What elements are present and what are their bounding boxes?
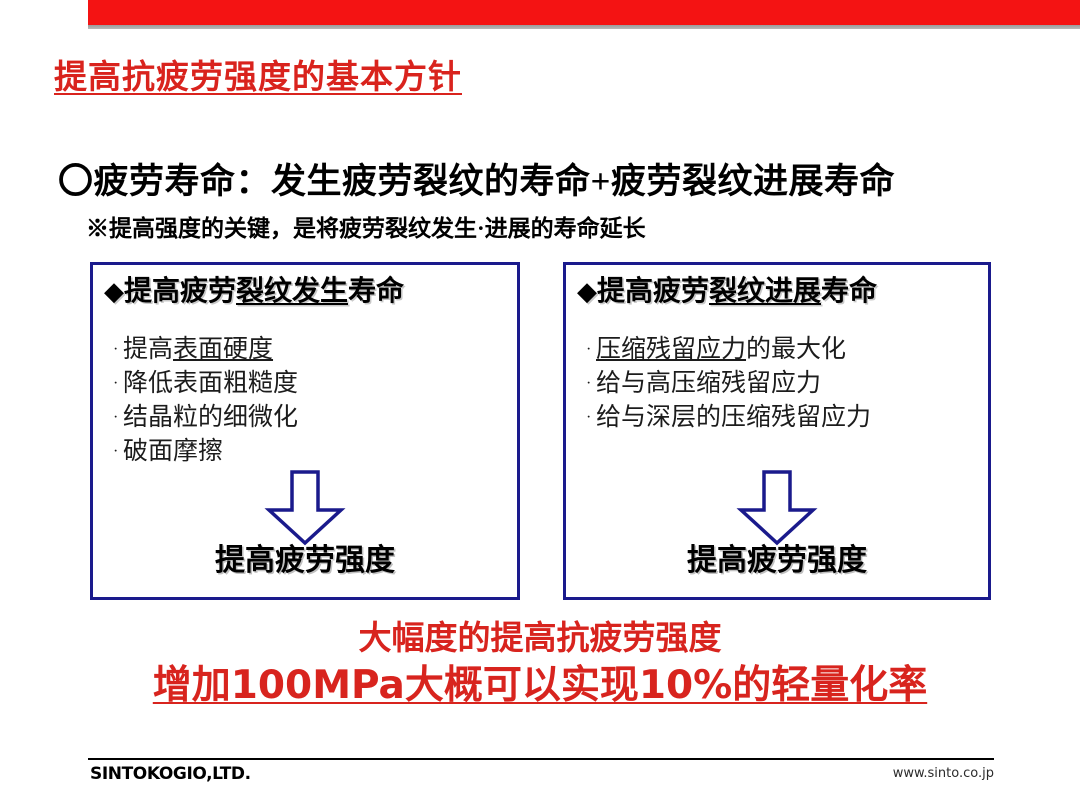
square-bullet-icon: · (113, 367, 123, 401)
panel-left-heading-plain-2: 寿命 (348, 276, 404, 307)
square-bullet-icon: · (586, 367, 596, 401)
note-statement: ※提高强度的关键，是将疲劳裂纹发生·进展的寿命延长 (86, 214, 646, 244)
list-item-plain-1: 提高 (123, 336, 173, 363)
square-bullet-icon: · (113, 401, 123, 435)
square-bullet-icon: · (113, 435, 123, 469)
panel-right-heading-plain-2: 寿命 (821, 276, 877, 307)
conclusion-line-2: 增加100MPa大概可以实现10%的轻量化率 (0, 662, 1080, 710)
main-statement: 〇疲劳寿命：发生疲劳裂纹的寿命+疲劳裂纹进展寿命 (58, 160, 895, 204)
footer-divider (88, 758, 994, 760)
top-red-banner (88, 0, 1080, 25)
panel-crack-propagation: ◆提高疲劳裂纹进展寿命 ·压缩残留应力的最大化 ·给与高压缩残留应力 ·给与深层… (563, 262, 991, 600)
list-item-plain-1: 破面摩擦 (123, 438, 223, 465)
panel-left-arrow-wrap (93, 470, 517, 546)
diamond-bullet-icon: ◆ (577, 277, 597, 306)
panel-crack-initiation: ◆提高疲劳裂纹发生寿命 ·提高表面硬度 ·降低表面粗糙度 ·结晶粒的细微化 ·破… (90, 262, 520, 600)
footer-brand: SINTOKOGIO,LTD. (90, 764, 251, 784)
panel-right-heading-underlined: 裂纹进展 (709, 276, 821, 307)
list-item: ·降低表面粗糙度 (113, 367, 298, 401)
diamond-bullet-icon: ◆ (104, 277, 124, 306)
down-arrow-icon (734, 470, 820, 546)
list-item: ·提高表面硬度 (113, 333, 298, 367)
list-item-underlined: 表面硬度 (173, 336, 273, 363)
list-item-plain-1: 给与深层的压缩残留应力 (596, 404, 871, 431)
list-item: ·结晶粒的细微化 (113, 401, 298, 435)
panel-right-arrow-wrap (566, 470, 988, 546)
panel-right-footer: 提高疲劳强度 (566, 543, 988, 579)
list-item: ·给与高压缩残留应力 (586, 367, 871, 401)
list-item-plain-1: 给与高压缩残留应力 (596, 370, 821, 397)
square-bullet-icon: · (586, 401, 596, 435)
list-item-plain-1: 降低表面粗糙度 (123, 370, 298, 397)
page-title: 提高抗疲劳强度的基本方针 (54, 57, 462, 97)
list-item-plain-2: 的最大化 (746, 336, 846, 363)
panel-left-heading: ◆提高疲劳裂纹发生寿命 (104, 273, 404, 311)
panel-right-heading-plain-1: 提高疲劳 (597, 276, 709, 307)
panel-left-footer: 提高疲劳强度 (93, 543, 517, 579)
list-item-underlined: 压缩残留应力 (596, 336, 746, 363)
panel-left-heading-plain-1: 提高疲劳 (124, 276, 236, 307)
square-bullet-icon: · (586, 333, 596, 367)
panel-right-item-list: ·压缩残留应力的最大化 ·给与高压缩残留应力 ·给与深层的压缩残留应力 (586, 333, 871, 435)
list-item: ·破面摩擦 (113, 435, 298, 469)
list-item-plain-1: 结晶粒的细微化 (123, 404, 298, 431)
panel-left-heading-underlined: 裂纹发生 (236, 276, 348, 307)
list-item: ·压缩残留应力的最大化 (586, 333, 871, 367)
list-item: ·给与深层的压缩残留应力 (586, 401, 871, 435)
square-bullet-icon: · (113, 333, 123, 367)
footer-url: www.sinto.co.jp (893, 766, 994, 781)
top-banner-shadow (88, 25, 1080, 29)
down-arrow-icon (262, 470, 348, 546)
conclusion-line-1: 大幅度的提高抗疲劳强度 (0, 618, 1080, 658)
panel-right-heading: ◆提高疲劳裂纹进展寿命 (577, 273, 877, 311)
panel-left-item-list: ·提高表面硬度 ·降低表面粗糙度 ·结晶粒的细微化 ·破面摩擦 (113, 333, 298, 469)
